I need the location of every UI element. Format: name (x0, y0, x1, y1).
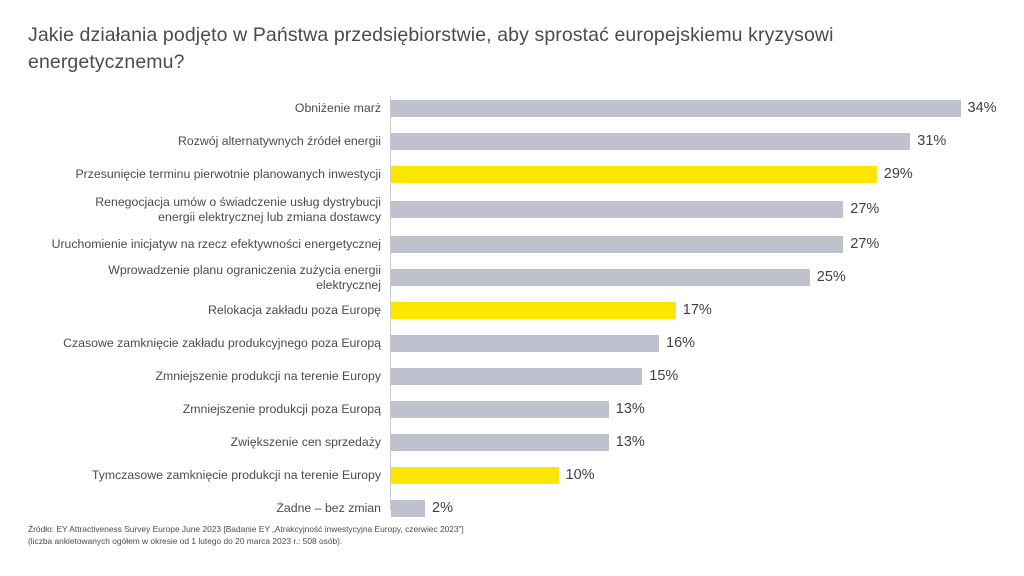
bar-row: Wprowadzenie planu ograniczenia zużycia … (0, 261, 1024, 294)
bar (391, 434, 609, 451)
bar-track: 13% (391, 393, 1024, 426)
bar-track: 10% (391, 459, 1024, 492)
bar-category-label-line1: Obniżenie marż (40, 101, 381, 116)
bar-track: 34% (391, 92, 1024, 125)
bar (391, 236, 843, 253)
bar-track: 13% (391, 426, 1024, 459)
bar-row: Tymczasowe zamknięcie produkcji na teren… (0, 459, 1024, 492)
bar-highlighted (391, 467, 559, 484)
bar-row: Zmniejszenie produkcji poza Europą13% (0, 393, 1024, 426)
bar (391, 100, 961, 117)
bar-category-label-line1: Wprowadzenie planu ograniczenia zużycia … (40, 263, 381, 293)
bar-rows: Obniżenie marż34%Rozwój alternatywnych ź… (0, 92, 1024, 525)
bar-category-label-line1: Zmniejszenie produkcji na terenie Europy (40, 369, 381, 384)
bar (391, 500, 425, 517)
bar-track: 15% (391, 360, 1024, 393)
bar (391, 401, 609, 418)
bar (391, 368, 642, 385)
bar-value-label: 13% (616, 434, 645, 451)
chart-container: Jakie działania podjęto w Państwa przeds… (0, 0, 1024, 576)
bar-category-label-line1: Zwiększenie cen sprzedaży (40, 435, 381, 450)
bar-category-label: Obniżenie marż (40, 92, 390, 125)
bar-value-label: 17% (683, 302, 712, 319)
bar-row: Żadne – bez zmian2% (0, 492, 1024, 525)
bar-track: 25% (391, 261, 1024, 294)
chart-title: Jakie działania podjęto w Państwa przeds… (28, 22, 928, 76)
bar-value-label: 15% (649, 368, 678, 385)
bar-value-label: 27% (850, 236, 879, 253)
bar-category-label-line1: Renegocjacja umów o świadczenie usług dy… (40, 195, 381, 210)
bar (391, 133, 910, 150)
bar-track: 29% (391, 158, 1024, 191)
bar-category-label-line1: Zmniejszenie produkcji poza Europą (40, 402, 381, 417)
bar (391, 335, 659, 352)
bar-category-label-line1: Czasowe zamknięcie zakładu produkcyjnego… (40, 336, 381, 351)
plot-area: Obniżenie marż34%Rozwój alternatywnych ź… (0, 92, 1024, 512)
bar-highlighted (391, 302, 676, 319)
bar-track: 2% (391, 492, 1024, 525)
bar-category-label: Przesunięcie terminu pierwotnie planowan… (40, 158, 390, 191)
bar (391, 269, 810, 286)
bar-value-label: 2% (432, 500, 453, 517)
bar-category-label: Żadne – bez zmian (40, 492, 390, 525)
bar-category-label-line1: Relokacja zakładu poza Europę (40, 303, 381, 318)
bar-row: Przesunięcie terminu pierwotnie planowan… (0, 158, 1024, 191)
bar-row: Rozwój alternatywnych źródeł energii31% (0, 125, 1024, 158)
bar-row: Zwiększenie cen sprzedaży13% (0, 426, 1024, 459)
bar-row: Obniżenie marż34% (0, 92, 1024, 125)
bar-row: Renegocjacja umów o świadczenie usług dy… (0, 191, 1024, 228)
bar-row: Czasowe zamknięcie zakładu produkcyjnego… (0, 327, 1024, 360)
bar-category-label: Rozwój alternatywnych źródeł energii (40, 125, 390, 158)
bar-category-label: Zmniejszenie produkcji poza Europą (40, 393, 390, 426)
bar-category-label: Zwiększenie cen sprzedaży (40, 426, 390, 459)
footnote-line-1: Źródło: EY Attractiveness Survey Europe … (28, 524, 948, 536)
bar-category-label: Relokacja zakładu poza Europę (40, 294, 390, 327)
bar-track: 17% (391, 294, 1024, 327)
bar-highlighted (391, 166, 877, 183)
bar-category-label: Uruchomienie inicjatyw na rzecz efektywn… (40, 228, 390, 261)
bar-row: Uruchomienie inicjatyw na rzecz efektywn… (0, 228, 1024, 261)
bar-category-label: Tymczasowe zamknięcie produkcji na teren… (40, 459, 390, 492)
bar-row: Relokacja zakładu poza Europę17% (0, 294, 1024, 327)
bar-category-label-line2: energii elektrycznej lub zmiana dostawcy (40, 210, 381, 225)
bar-value-label: 10% (566, 467, 595, 484)
bar-value-label: 34% (968, 100, 997, 117)
bar-category-label: Renegocjacja umów o świadczenie usług dy… (40, 191, 390, 228)
bar-row: Zmniejszenie produkcji na terenie Europy… (0, 360, 1024, 393)
source-footnote: Źródło: EY Attractiveness Survey Europe … (28, 524, 948, 547)
bar-category-label-line1: Przesunięcie terminu pierwotnie planowan… (40, 167, 381, 182)
bar-category-label: Wprowadzenie planu ograniczenia zużycia … (40, 261, 390, 294)
bar-value-label: 16% (666, 335, 695, 352)
bar-track: 31% (391, 125, 1024, 158)
bar-category-label: Czasowe zamknięcie zakładu produkcyjnego… (40, 327, 390, 360)
bar-category-label-line1: Uruchomienie inicjatyw na rzecz efektywn… (40, 237, 381, 252)
bar-track: 16% (391, 327, 1024, 360)
bar-category-label-line1: Rozwój alternatywnych źródeł energii (40, 134, 381, 149)
bar-track: 27% (391, 191, 1024, 228)
bar-category-label-line1: Żadne – bez zmian (40, 501, 381, 516)
bar-value-label: 13% (616, 401, 645, 418)
bar-category-label-line1: Tymczasowe zamknięcie produkcji na teren… (40, 468, 381, 483)
bar-value-label: 29% (884, 166, 913, 183)
bar-track: 27% (391, 228, 1024, 261)
bar-value-label: 27% (850, 201, 879, 218)
bar-value-label: 25% (817, 269, 846, 286)
bar-value-label: 31% (917, 133, 946, 150)
bar (391, 201, 843, 218)
bar-category-label: Zmniejszenie produkcji na terenie Europy (40, 360, 390, 393)
footnote-line-2: (liczba ankietowanych ogółem w okresie o… (28, 536, 948, 548)
